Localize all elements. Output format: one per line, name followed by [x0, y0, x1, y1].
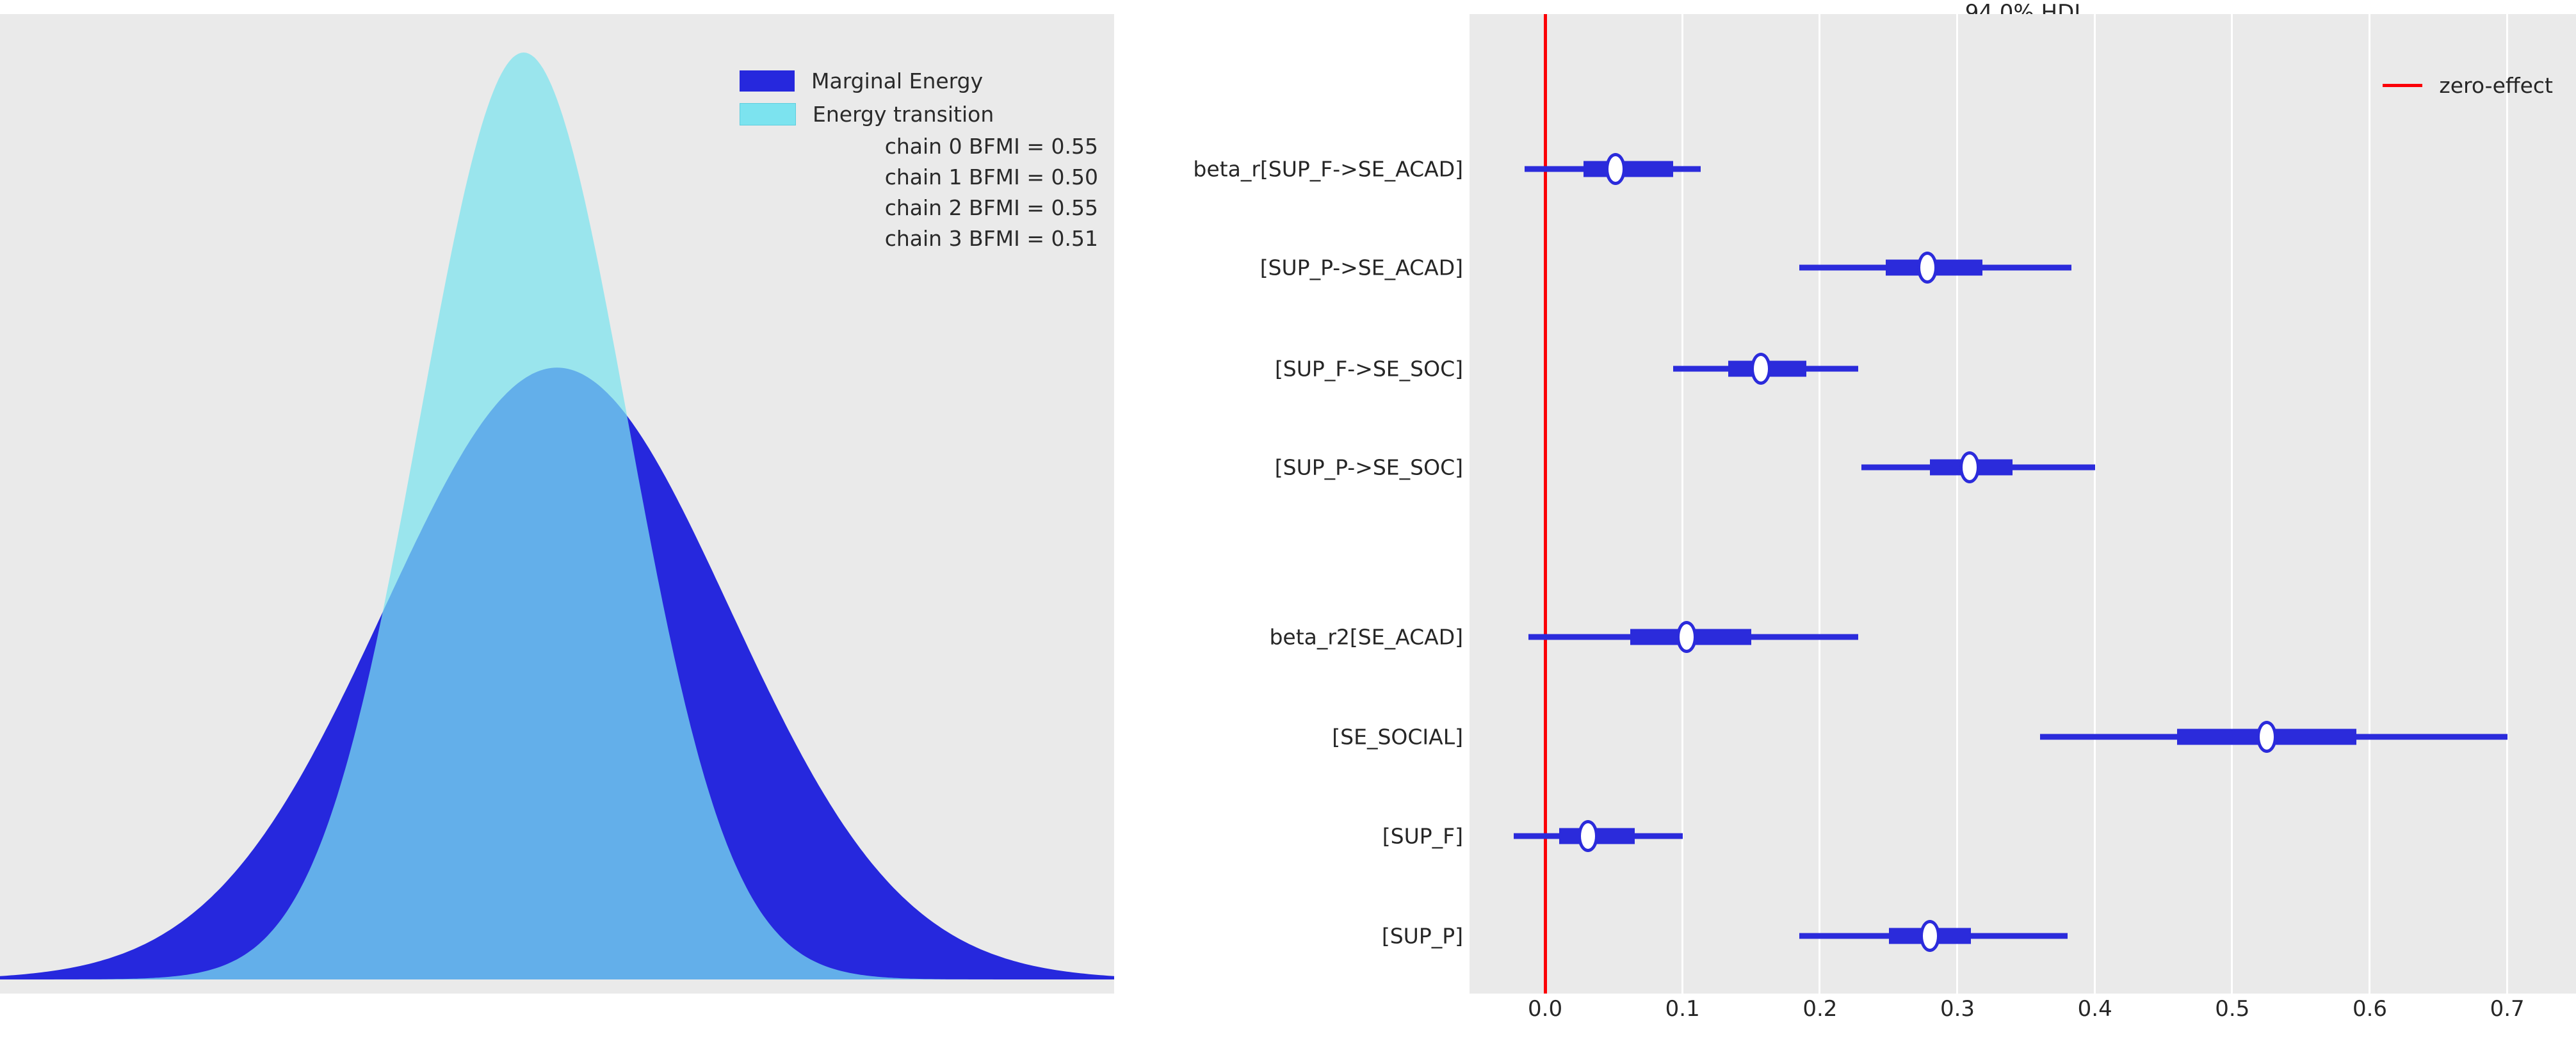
x-tick-label-3: 0.3 [1940, 996, 1975, 1022]
forest-interval-row[interactable] [1470, 248, 2576, 287]
energy-plot-panel: Marginal Energy Energy transition chain … [0, 14, 1114, 994]
forest-interval-row[interactable] [1470, 618, 2576, 656]
x-tick-label-2: 0.2 [1802, 996, 1837, 1022]
forest-label-5: [SE_SOCIAL] [1332, 725, 1463, 750]
forest-interval-row[interactable] [1470, 917, 2576, 955]
forest-label-2: [SUP_F->SE_SOC] [1275, 356, 1463, 381]
posterior-mean-marker [1751, 353, 1771, 385]
forest-label-1: [SUP_P->SE_ACAD] [1260, 255, 1463, 280]
posterior-mean-marker [2256, 721, 2277, 753]
x-tick-label-4: 0.4 [2078, 996, 2112, 1022]
zero-effect-legend-label: zero-effect [2439, 73, 2553, 98]
posterior-mean-marker [1676, 621, 1697, 653]
forest-interval-row[interactable] [1470, 150, 2576, 188]
forest-interval-row[interactable] [1470, 817, 2576, 855]
forest-label-3: [SUP_P->SE_SOC] [1275, 455, 1463, 480]
posterior-mean-marker [1578, 820, 1598, 852]
posterior-mean-marker [1917, 252, 1938, 284]
x-tick-label-6: 0.6 [2353, 996, 2387, 1022]
forest-interval-row[interactable] [1470, 718, 2576, 756]
energy-transition-swatch-icon [740, 103, 796, 125]
marginal-energy-swatch-icon [740, 70, 795, 92]
posterior-mean-marker [1959, 451, 1980, 483]
forest-label-4: beta_r2[SE_ACAD] [1269, 625, 1463, 650]
forest-interval-row[interactable] [1470, 448, 2576, 487]
zero-effect-legend: zero-effect [2383, 73, 2553, 98]
posterior-mean-marker [1920, 920, 1940, 952]
iqr-interval-bar [1584, 161, 1673, 177]
forest-category-labels: beta_r[SUP_F->SE_ACAD][SUP_P->SE_ACAD][S… [948, 14, 1463, 994]
forest-x-axis-ticks: 0.00.10.20.30.40.50.60.7 [1470, 996, 2576, 1035]
posterior-mean-marker [1605, 153, 1626, 185]
x-tick-label-0: 0.0 [1528, 996, 1562, 1022]
zero-effect-line-icon [2383, 84, 2422, 87]
x-tick-label-5: 0.5 [2215, 996, 2249, 1022]
forest-interval-row[interactable] [1470, 350, 2576, 388]
x-tick-label-1: 0.1 [1665, 996, 1700, 1022]
forest-label-7: [SUP_P] [1382, 923, 1463, 948]
forest-label-0: beta_r[SUP_F->SE_ACAD] [1193, 156, 1463, 181]
x-tick-label-7: 0.7 [2490, 996, 2525, 1022]
forest-label-6: [SUP_F] [1382, 823, 1463, 848]
forest-plot-panel: zero-effect [1470, 14, 2576, 994]
figure-root: Marginal Energy Energy transition chain … [0, 0, 2576, 1039]
